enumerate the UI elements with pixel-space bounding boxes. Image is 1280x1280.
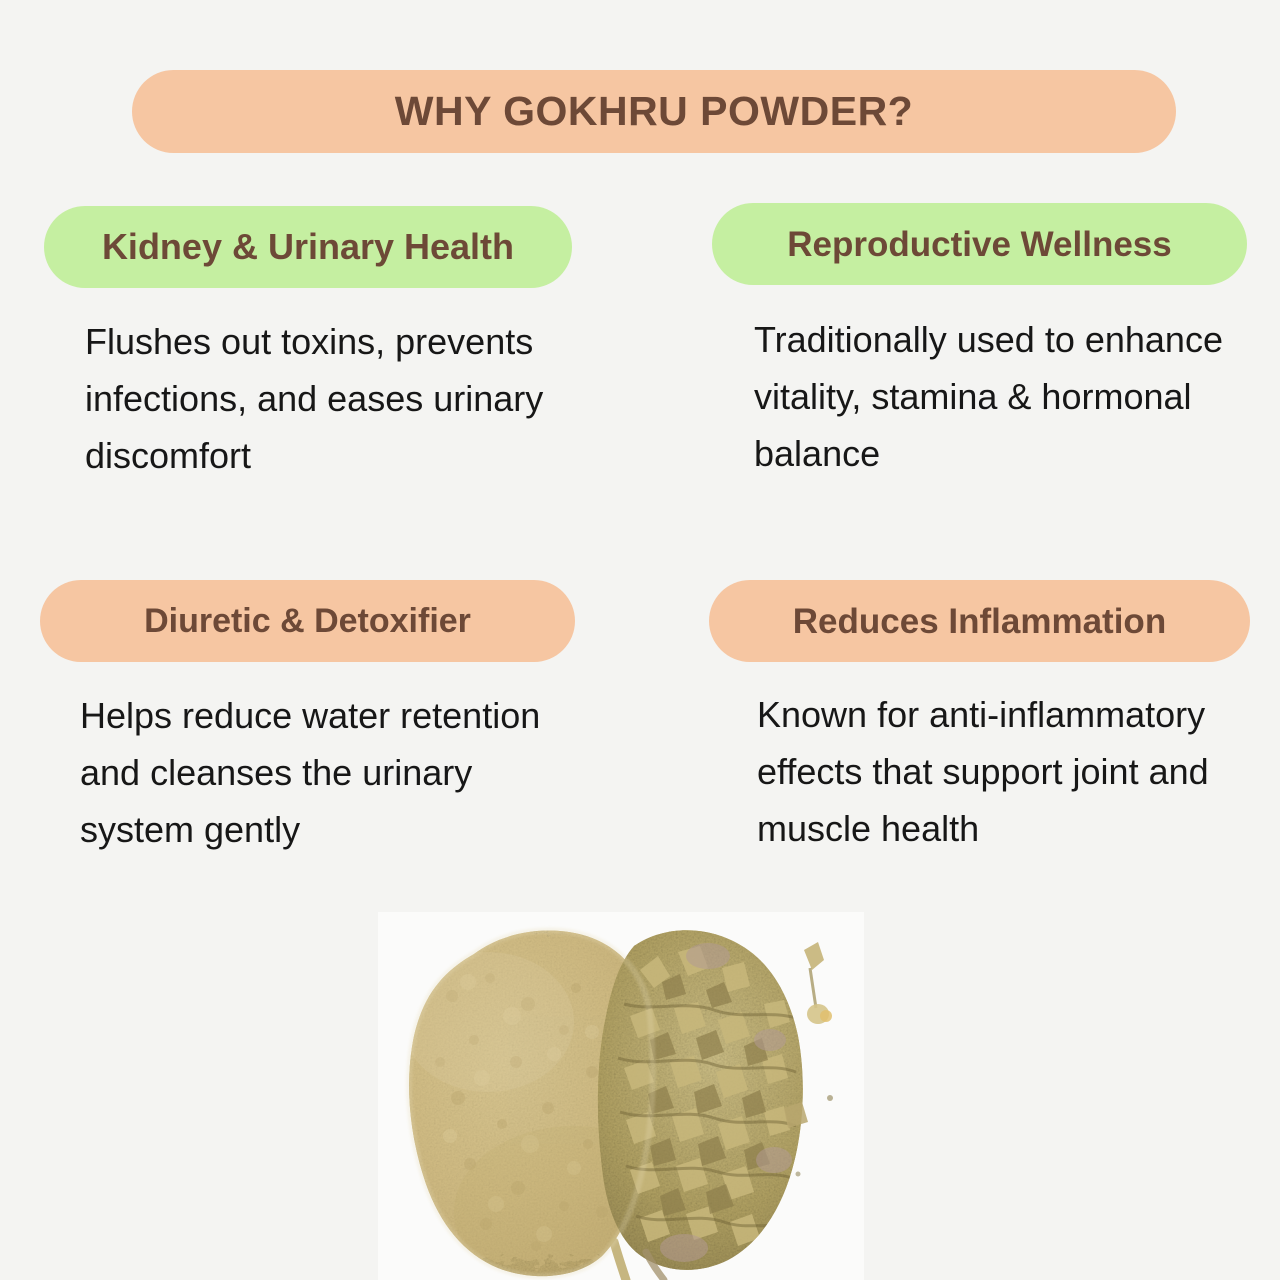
feature-pill-reproductive-wellness: Reproductive Wellness: [712, 203, 1247, 285]
feature-block-diuretic-detoxifier: Diuretic & Detoxifier Helps reduce water…: [40, 580, 660, 858]
feature-pill-label: Kidney & Urinary Health: [102, 229, 514, 265]
product-photo: [378, 912, 864, 1280]
page-title: WHY GOKHRU POWDER?: [395, 88, 913, 135]
feature-block-kidney-urinary-health: Kidney & Urinary Health Flushes out toxi…: [44, 206, 664, 484]
feature-block-reproductive-wellness: Reproductive Wellness Traditionally used…: [712, 203, 1272, 482]
feature-body-reduces-inflammation: Known for anti-inflammatory effects that…: [757, 686, 1227, 857]
feature-pill-label: Diuretic & Detoxifier: [144, 604, 471, 638]
header-banner: WHY GOKHRU POWDER?: [132, 70, 1176, 153]
feature-block-reduces-inflammation: Reduces Inflammation Known for anti-infl…: [709, 580, 1269, 857]
gokhru-powder-and-herb-illustration: [378, 912, 864, 1280]
feature-pill-label: Reduces Inflammation: [793, 604, 1166, 639]
feature-body-reproductive-wellness: Traditionally used to enhance vitality, …: [754, 311, 1224, 482]
infographic-poster: WHY GOKHRU POWDER? Kidney & Urinary Heal…: [0, 0, 1280, 1280]
feature-pill-kidney-urinary-health: Kidney & Urinary Health: [44, 206, 572, 288]
feature-body-diuretic-detoxifier: Helps reduce water retention and cleanse…: [80, 687, 570, 858]
feature-pill-label: Reproductive Wellness: [787, 227, 1171, 262]
feature-body-kidney-urinary-health: Flushes out toxins, prevents infections,…: [85, 313, 555, 484]
feature-pill-reduces-inflammation: Reduces Inflammation: [709, 580, 1250, 662]
feature-pill-diuretic-detoxifier: Diuretic & Detoxifier: [40, 580, 575, 662]
